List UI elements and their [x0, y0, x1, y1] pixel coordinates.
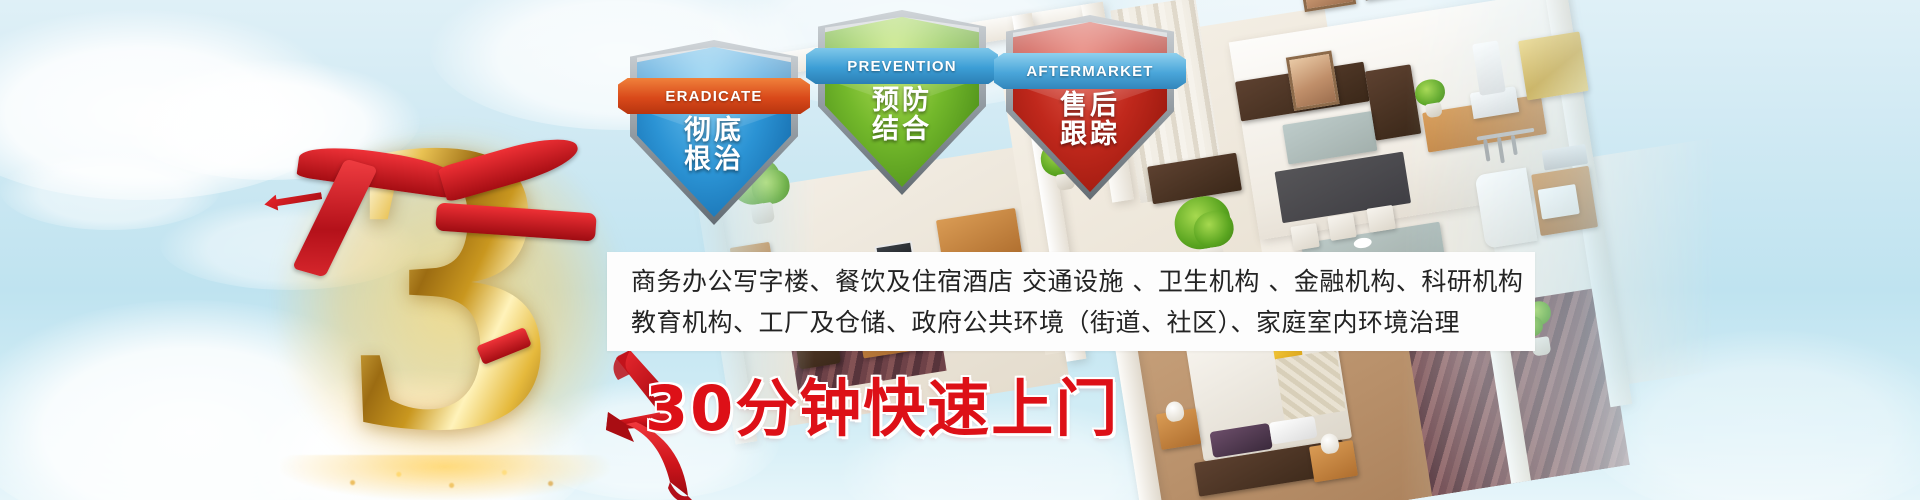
promo-banner: 彻底 根治 ERADICATE 预防 结合 PREVENTION 售后 跟踪 A… [0, 0, 1920, 500]
info-line-1: 商务办公写字楼、餐饮及住宿酒店 交通设施 、卫生机构 、金融机构、科研机构 [631, 261, 1535, 302]
cloud-shape [1580, 330, 1920, 500]
shield-badge-group: 彻底 根治 ERADICATE 预防 结合 PREVENTION 售后 跟踪 A… [630, 10, 1190, 225]
shield-cn-line-1: 预防 [818, 86, 986, 115]
shield-cn-text: 售后 跟踪 [1006, 91, 1174, 149]
shield-cn-line-1: 售后 [1006, 91, 1174, 120]
shield-cn-line-2: 跟踪 [1006, 120, 1174, 149]
shield-ribbon-label: AFTERMARKET [994, 53, 1186, 89]
gold-particles [280, 455, 610, 500]
headline-text: 30分钟快速上门 [645, 358, 1119, 448]
info-text-panel: 商务办公写字楼、餐饮及住宿酒店 交通设施 、卫生机构 、金融机构、科研机构 教育… [607, 252, 1535, 351]
shield-cn-text: 预防 结合 [818, 86, 986, 144]
shield-badge-aftermarket[interactable]: 售后 跟踪 AFTERMARKET [1006, 15, 1174, 200]
cloud-shape [0, 150, 220, 230]
info-line-2: 教育机构、工厂及仓储、政府公共环境（街道、社区）、家庭室内环境治理 [631, 302, 1535, 343]
shield-cn-line-2: 结合 [818, 115, 986, 144]
shield-badge-prevention[interactable]: 预防 结合 PREVENTION [818, 10, 986, 195]
shield-ribbon-label: PREVENTION [806, 48, 998, 84]
